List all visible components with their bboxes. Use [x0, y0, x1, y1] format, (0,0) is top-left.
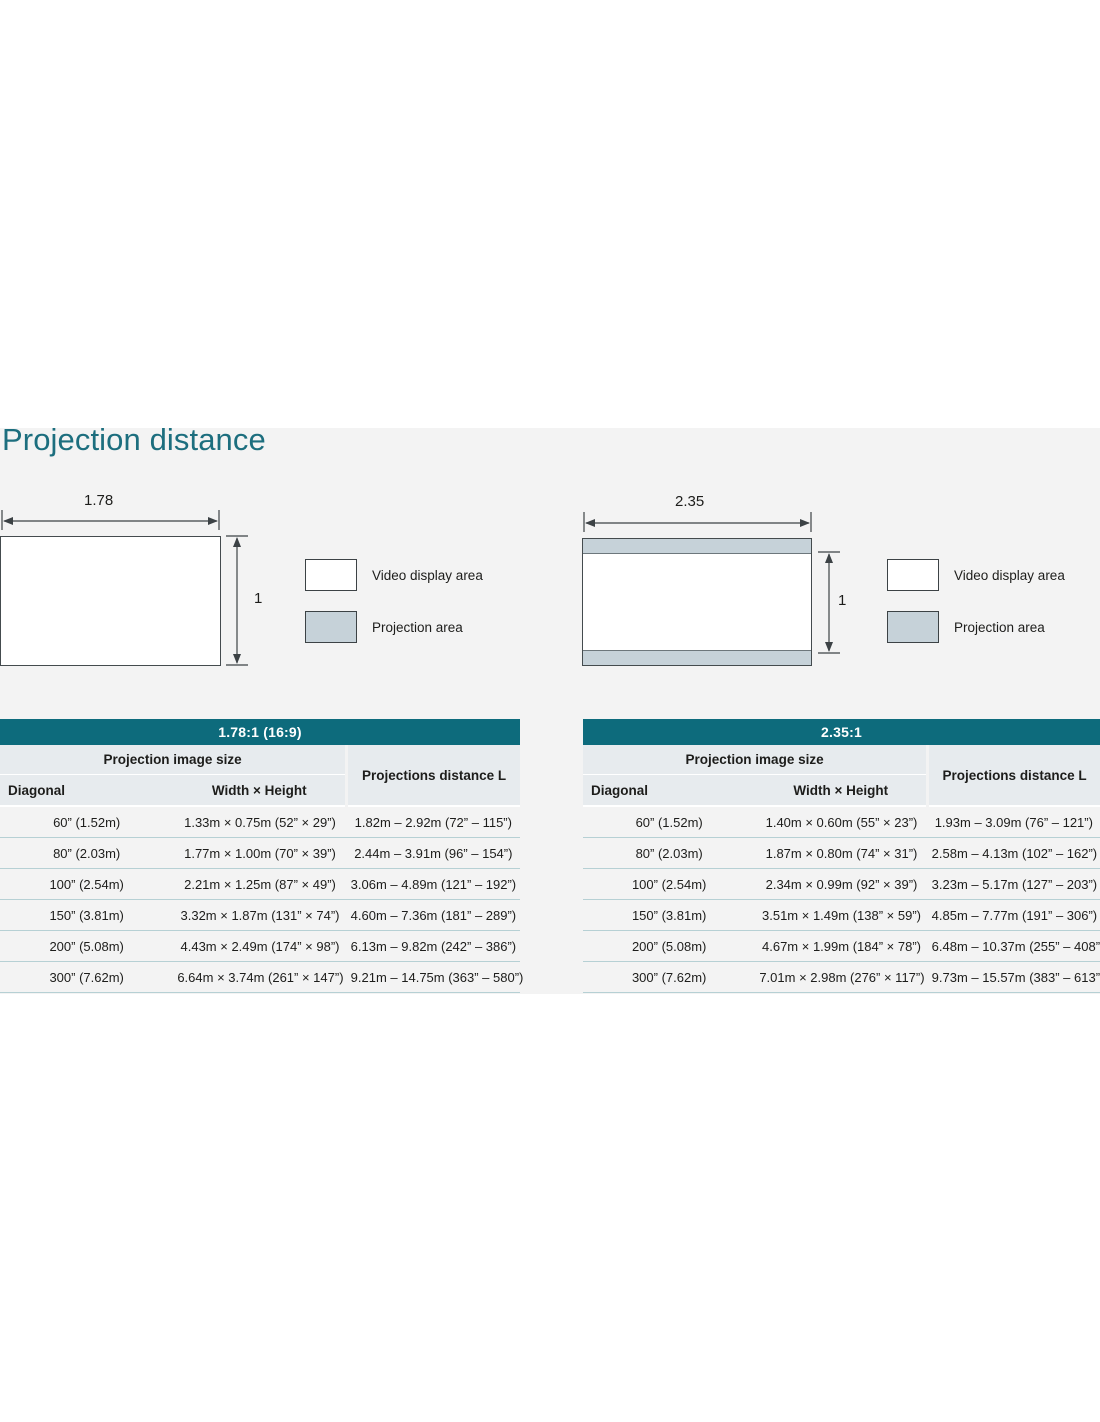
legend-label: Projection area — [372, 620, 463, 635]
cell-diagonal: 200” (5.08m) — [583, 931, 755, 962]
table-head: 2.35:1 Projection image size Projections… — [583, 719, 1100, 806]
cell-width-height: 1.77m × 1.00m (70” × 39”) — [173, 838, 346, 869]
column-header-distance: Projections distance L — [347, 745, 520, 806]
height-dimension-label: 1 — [838, 592, 846, 609]
cell-distance: 3.06m – 4.89m (121” – 192”) — [347, 869, 520, 900]
table-row: 80” (2.03m) 1.87m × 0.80m (74” × 31”) 2.… — [583, 838, 1100, 869]
video-display-swatch-icon — [305, 559, 357, 591]
projection-area-swatch-icon — [887, 611, 939, 643]
page-title: Projection distance — [2, 422, 266, 458]
group-header-projection-image-size: Projection image size — [0, 745, 347, 775]
legend-item-projection-area: Projection area — [305, 610, 483, 644]
projection-distance-table-16-9: 1.78:1 (16:9) Projection image size Proj… — [0, 719, 520, 993]
cell-diagonal: 100” (2.54m) — [0, 869, 173, 900]
height-dimension-arrow — [226, 534, 250, 668]
projection-area-swatch-icon — [305, 611, 357, 643]
column-header-diagonal: Diagonal — [583, 775, 755, 807]
table-group-header-row: Projection image size Projections distan… — [583, 745, 1100, 775]
legend-label: Video display area — [372, 568, 483, 583]
cell-distance: 6.13m – 9.82m (242” – 386”) — [347, 931, 520, 962]
legend-label: Video display area — [954, 568, 1065, 583]
legend-item-video-display: Video display area — [887, 558, 1065, 592]
table-row: 150” (3.81m) 3.51m × 1.49m (138” × 59”) … — [583, 900, 1100, 931]
width-dimension-arrow — [0, 510, 225, 532]
cell-width-height: 4.67m × 1.99m (184” × 78”) — [755, 931, 927, 962]
cell-width-height: 7.01m × 2.98m (276” × 117”) — [755, 962, 927, 993]
cell-width-height: 2.34m × 0.99m (92” × 39”) — [755, 869, 927, 900]
table-group-header-row: Projection image size Projections distan… — [0, 745, 520, 775]
cell-distance: 6.48m – 10.37m (255” – 408”) — [928, 931, 1100, 962]
ratio-title: 2.35:1 — [583, 719, 1100, 745]
table-ratio-row: 2.35:1 — [583, 719, 1100, 745]
cell-width-height: 6.64m × 3.74m (261” × 147”) — [173, 962, 346, 993]
cell-width-height: 1.40m × 0.60m (55” × 23”) — [755, 806, 927, 838]
video-display-swatch-icon — [887, 559, 939, 591]
column-header-width-height: Width × Height — [173, 775, 346, 807]
table-row: 80” (2.03m) 1.77m × 1.00m (70” × 39”) 2.… — [0, 838, 520, 869]
height-dimension-label: 1 — [254, 590, 262, 607]
table-ratio-row: 1.78:1 (16:9) — [0, 719, 520, 745]
width-dimension-label: 1.78 — [84, 492, 113, 509]
cell-distance: 9.21m – 14.75m (363” – 580”) — [347, 962, 520, 993]
letterbox-band-bottom — [583, 650, 811, 665]
cell-diagonal: 80” (2.03m) — [583, 838, 755, 869]
table-row: 300” (7.62m) 6.64m × 3.74m (261” × 147”)… — [0, 962, 520, 993]
cell-distance: 2.58m – 4.13m (102” – 162”) — [928, 838, 1100, 869]
cell-width-height: 1.87m × 0.80m (74” × 31”) — [755, 838, 927, 869]
letterbox-band-top — [583, 539, 811, 554]
table-row: 300” (7.62m) 7.01m × 2.98m (276” × 117”)… — [583, 962, 1100, 993]
table-row: 200” (5.08m) 4.43m × 2.49m (174” × 98”) … — [0, 931, 520, 962]
cell-distance: 9.73m – 15.57m (383” – 613”) — [928, 962, 1100, 993]
cell-width-height: 1.33m × 0.75m (52” × 29”) — [173, 806, 346, 838]
column-header-distance: Projections distance L — [928, 745, 1100, 806]
cell-width-height: 2.21m × 1.25m (87” × 49”) — [173, 869, 346, 900]
ratio-title: 1.78:1 (16:9) — [0, 719, 520, 745]
cell-distance: 3.23m – 5.17m (127” – 203”) — [928, 869, 1100, 900]
table-row: 200” (5.08m) 4.67m × 1.99m (184” × 78”) … — [583, 931, 1100, 962]
cell-distance: 4.60m – 7.36m (181” – 289”) — [347, 900, 520, 931]
column-header-diagonal: Diagonal — [0, 775, 173, 807]
legend-2-35: Video display area Projection area — [887, 558, 1065, 662]
cell-distance: 1.93m – 3.09m (76” – 121”) — [928, 806, 1100, 838]
table-head: 1.78:1 (16:9) Projection image size Proj… — [0, 719, 520, 806]
cell-diagonal: 200” (5.08m) — [0, 931, 173, 962]
table-row: 100” (2.54m) 2.21m × 1.25m (87” × 49”) 3… — [0, 869, 520, 900]
projection-rect — [582, 538, 812, 666]
width-dimension-arrow — [582, 512, 817, 534]
table-row: 150” (3.81m) 3.32m × 1.87m (131” × 74”) … — [0, 900, 520, 931]
cell-diagonal: 150” (3.81m) — [0, 900, 173, 931]
cell-diagonal: 60” (1.52m) — [0, 806, 173, 838]
cell-diagonal: 300” (7.62m) — [0, 962, 173, 993]
cell-distance: 2.44m – 3.91m (96” – 154”) — [347, 838, 520, 869]
table-row: 60” (1.52m) 1.33m × 0.75m (52” × 29”) 1.… — [0, 806, 520, 838]
legend-item-video-display: Video display area — [305, 558, 483, 592]
cell-width-height: 4.43m × 2.49m (174” × 98”) — [173, 931, 346, 962]
legend-label: Projection area — [954, 620, 1045, 635]
cell-distance: 1.82m – 2.92m (72” – 115”) — [347, 806, 520, 838]
cell-diagonal: 300” (7.62m) — [583, 962, 755, 993]
table-row: 60” (1.52m) 1.40m × 0.60m (55” × 23”) 1.… — [583, 806, 1100, 838]
video-display-rect — [0, 536, 221, 666]
projection-distance-table-2-35: 2.35:1 Projection image size Projections… — [583, 719, 1100, 993]
cell-diagonal: 80” (2.03m) — [0, 838, 173, 869]
legend-16-9: Video display area Projection area — [305, 558, 483, 662]
cell-width-height: 3.51m × 1.49m (138” × 59”) — [755, 900, 927, 931]
cell-distance: 4.85m – 7.77m (191” – 306”) — [928, 900, 1100, 931]
cell-width-height: 3.32m × 1.87m (131” × 74”) — [173, 900, 346, 931]
cell-diagonal: 60” (1.52m) — [583, 806, 755, 838]
column-header-width-height: Width × Height — [755, 775, 927, 807]
cell-diagonal: 150” (3.81m) — [583, 900, 755, 931]
cell-diagonal: 100” (2.54m) — [583, 869, 755, 900]
table-body: 60” (1.52m) 1.40m × 0.60m (55” × 23”) 1.… — [583, 806, 1100, 993]
table-row: 100” (2.54m) 2.34m × 0.99m (92” × 39”) 3… — [583, 869, 1100, 900]
legend-item-projection-area: Projection area — [887, 610, 1065, 644]
screen-diagram-16-9: 1.78 1 Video display area Projection are… — [0, 500, 520, 680]
width-dimension-label: 2.35 — [675, 493, 704, 510]
table-body: 60” (1.52m) 1.33m × 0.75m (52” × 29”) 1.… — [0, 806, 520, 993]
group-header-projection-image-size: Projection image size — [583, 745, 928, 775]
screen-diagram-2-35: 2.35 1 Video display area Projection are… — [582, 500, 1100, 680]
